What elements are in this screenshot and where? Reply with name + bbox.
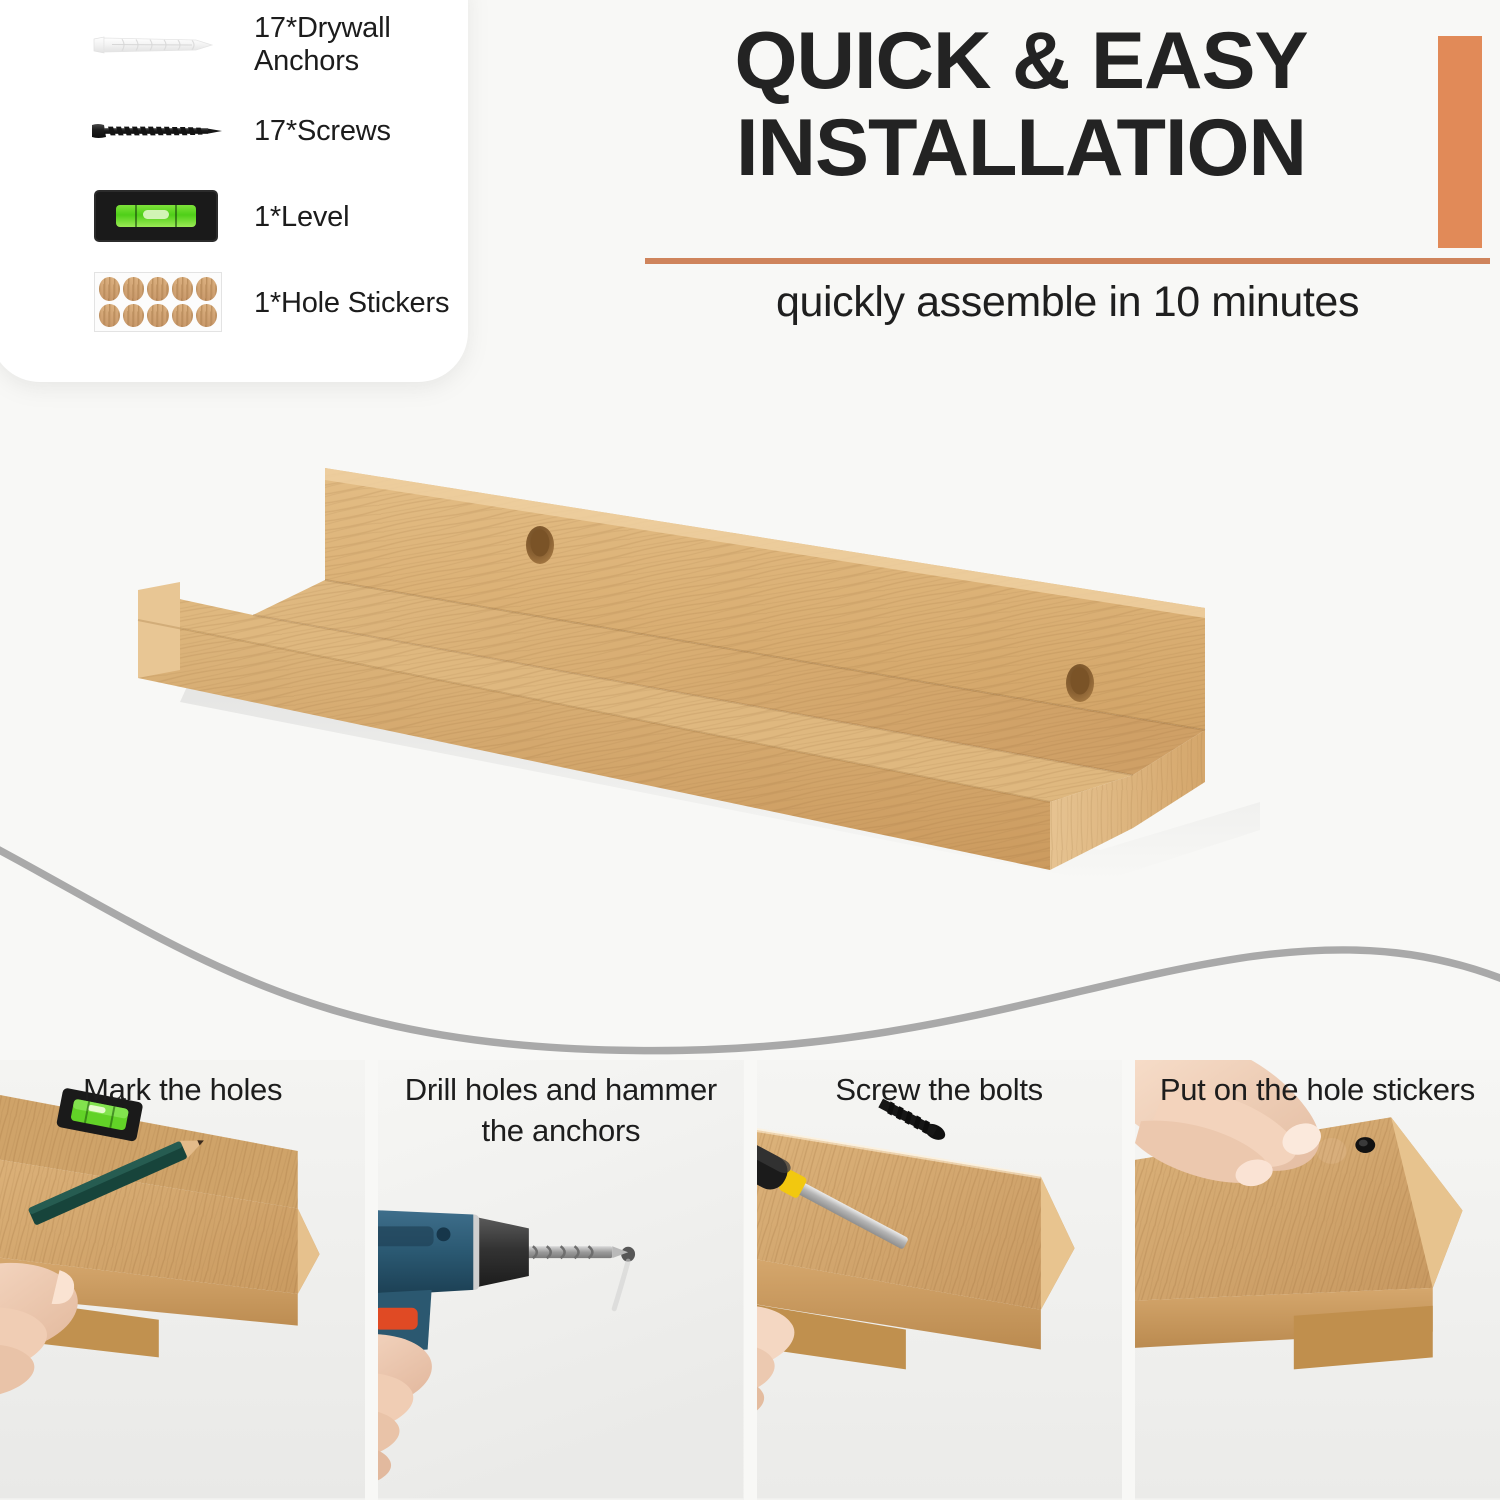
parts-list: 17*Drywall Anchors <box>0 2 468 346</box>
step-caption-2: Drill holes and hammer the anchors <box>378 1070 743 1152</box>
part-item-drywall-anchors: 17*Drywall Anchors <box>0 2 468 88</box>
screw-icon <box>86 94 236 168</box>
part-label-screws: 17*Screws <box>254 115 391 148</box>
accent-bar <box>1438 36 1482 248</box>
headline-subtitle: quickly assemble in 10 minutes <box>640 278 1495 327</box>
product-image <box>120 430 1350 900</box>
part-item-screws: 17*Screws <box>0 88 468 174</box>
step-caption-3: Screw the bolts <box>757 1070 1122 1111</box>
headline-line-2: INSTALLATION <box>610 105 1490 192</box>
hand-pencil-level-icon <box>0 1058 365 1500</box>
part-label-level: 1*Level <box>254 201 349 234</box>
parts-list-card: 17*Drywall Anchors <box>0 0 468 382</box>
hero-section: 17*Drywall Anchors <box>0 0 1500 1060</box>
part-item-level: 1*Level <box>0 174 468 260</box>
part-item-hole-stickers: 1*Hole Stickers <box>0 260 468 346</box>
level-icon <box>86 180 236 254</box>
hole-stickers-icon <box>86 266 236 340</box>
headline-line-1: QUICK & EASY <box>610 18 1490 105</box>
step-panel-2: Drill holes and hammer the anchors <box>378 1058 743 1500</box>
step-caption-1: Mark the holes <box>0 1070 365 1111</box>
step-panel-4: Put on the hole stickers <box>1135 1058 1500 1500</box>
step-panel-3: Screw the bolts <box>757 1058 1122 1500</box>
hand-sticker-icon <box>1135 1058 1500 1500</box>
headline-divider-rule <box>645 258 1490 264</box>
step-panel-1: Mark the holes <box>0 1058 365 1500</box>
drywall-anchor-icon <box>86 8 236 82</box>
steps-section: Mark the holes <box>0 1058 1500 1500</box>
step-caption-4: Put on the hole stickers <box>1135 1070 1500 1111</box>
part-label-drywall-anchors: 17*Drywall Anchors <box>254 12 454 78</box>
headline-block: QUICK & EASY INSTALLATION <box>610 18 1490 193</box>
screwdriver-icon <box>757 1058 1122 1500</box>
part-label-hole-stickers: 1*Hole Stickers <box>254 287 449 320</box>
infographic-root: 17*Drywall Anchors <box>0 0 1500 1500</box>
